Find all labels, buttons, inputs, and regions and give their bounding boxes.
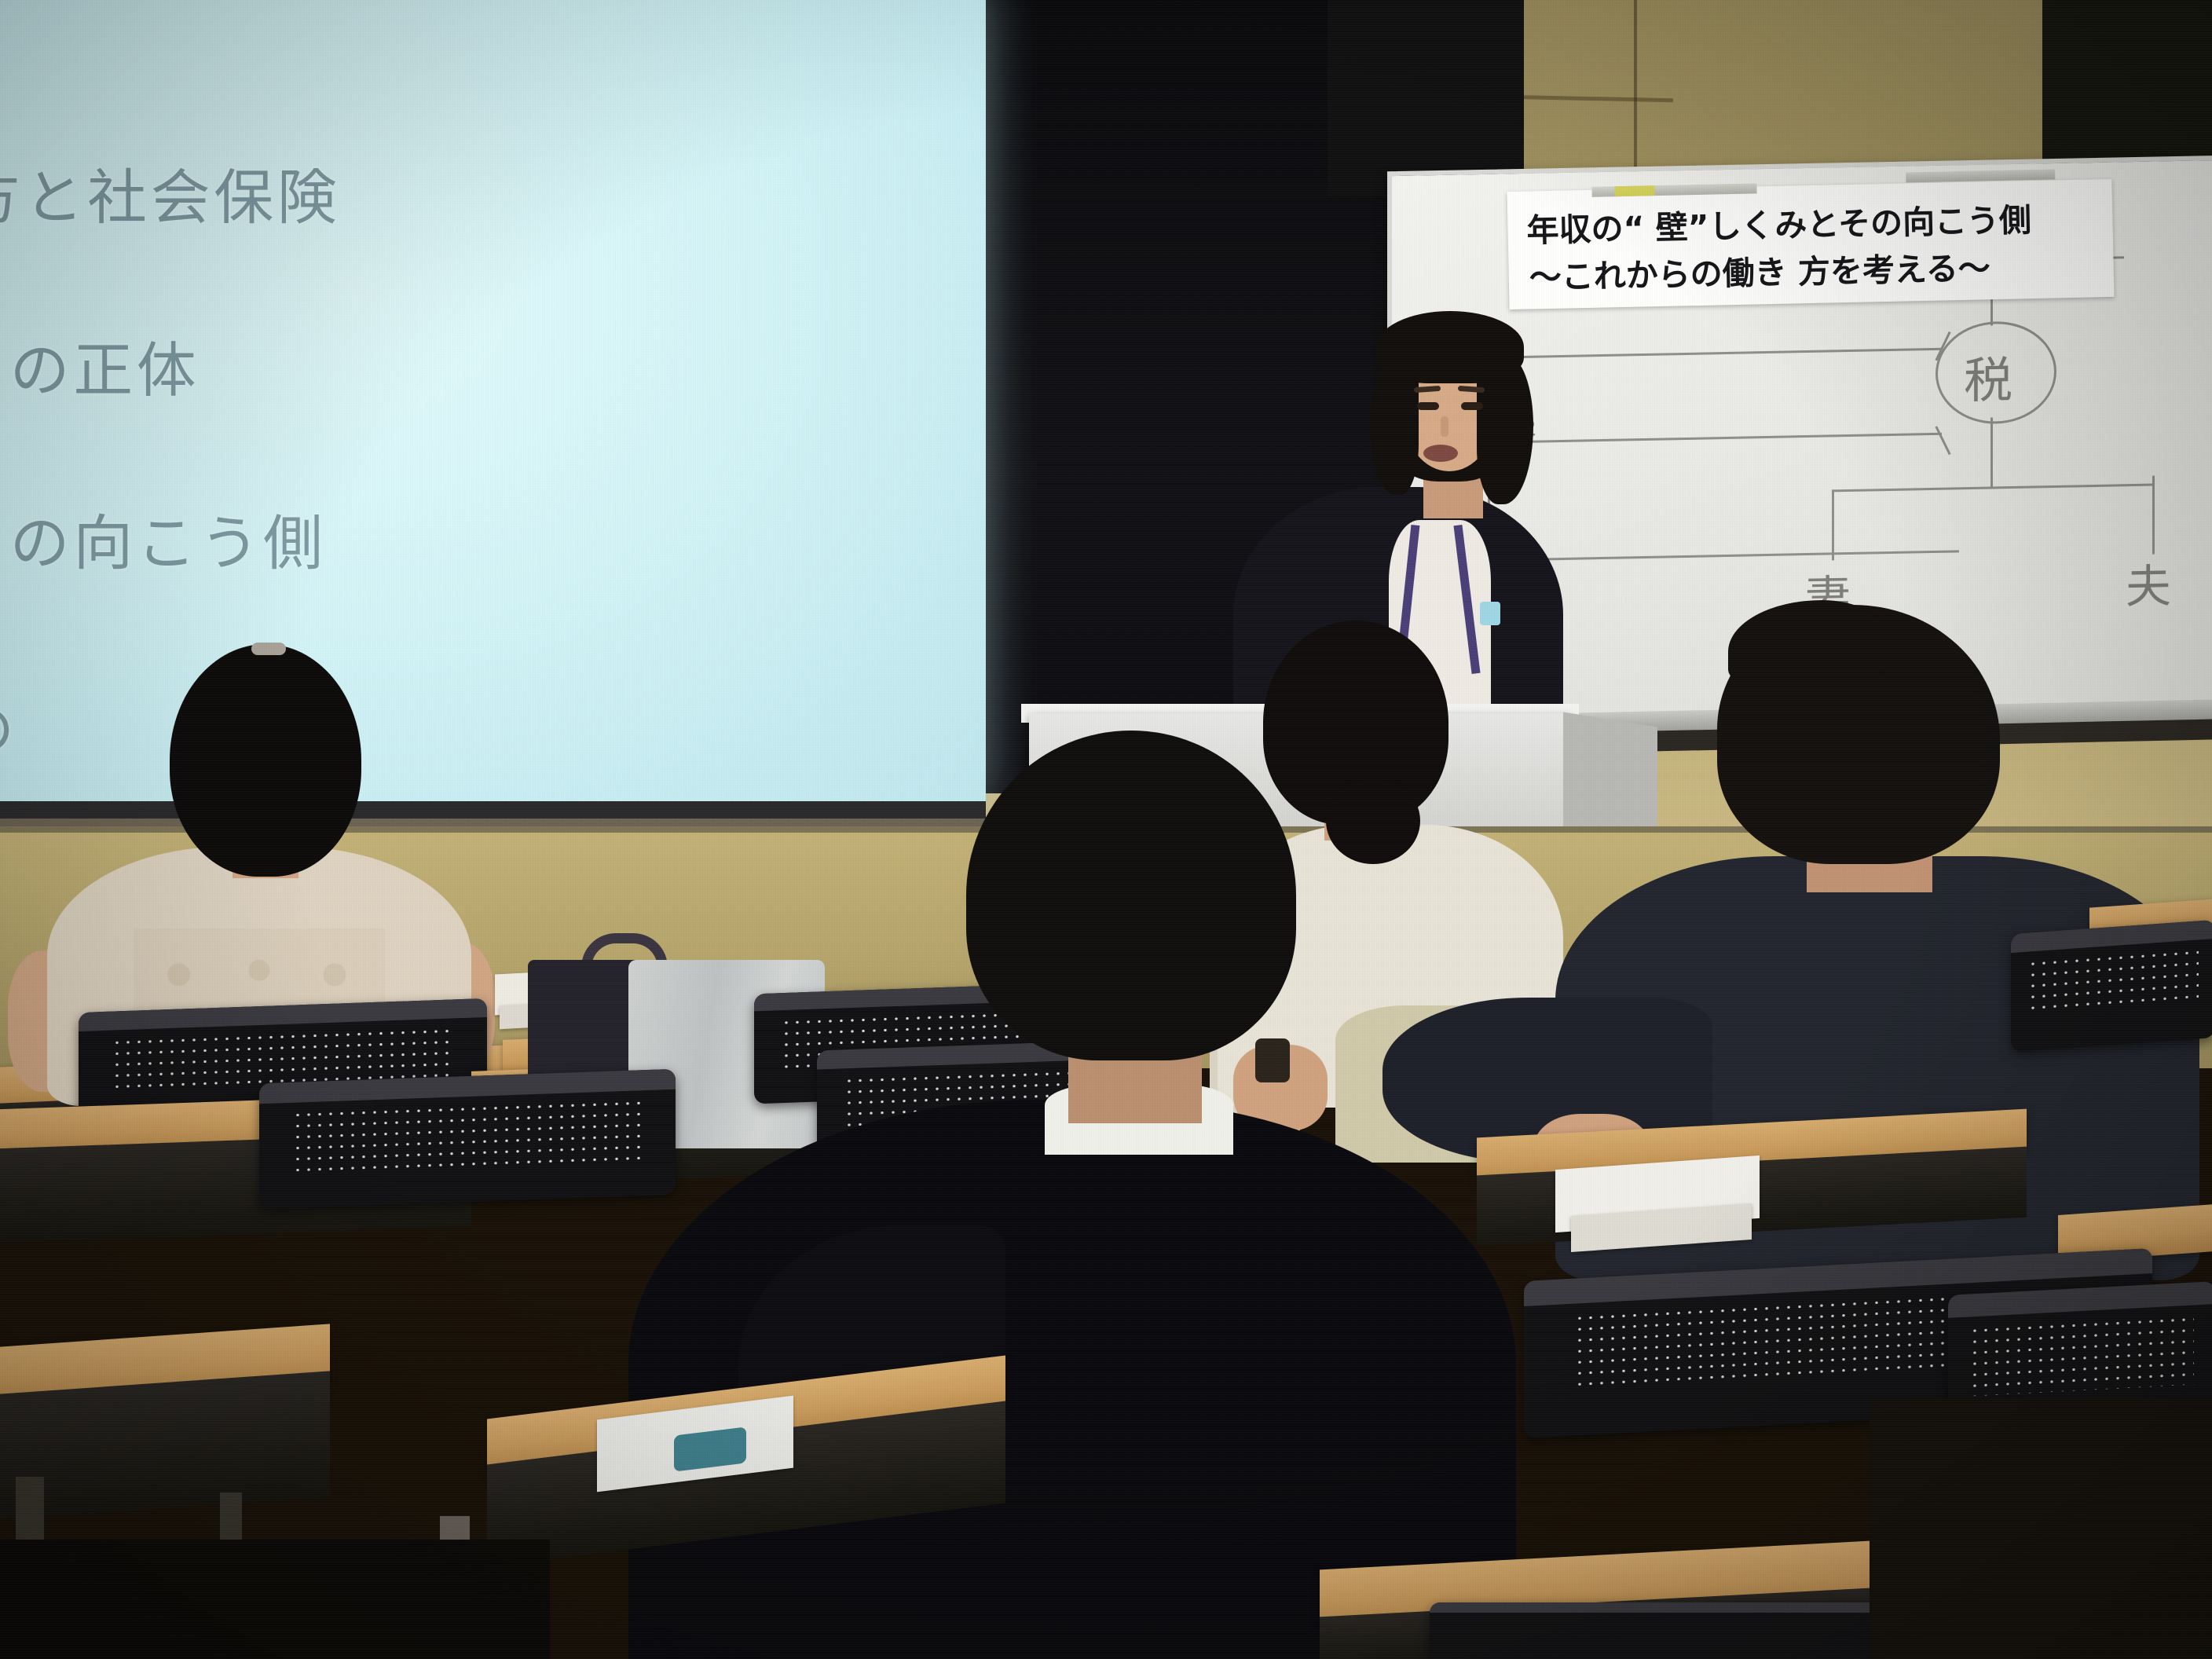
poster-title-line-2: ～これからの働き 方を考える～ bbox=[1529, 241, 1990, 298]
whiteboard-kanji-husband: 夫 bbox=[2126, 549, 2171, 616]
wristwatch bbox=[1255, 1038, 1290, 1082]
presenter-eye bbox=[1417, 402, 1439, 410]
slide-line-4: の bbox=[0, 683, 17, 767]
slide-line-2: ” の正体 bbox=[0, 322, 200, 408]
presenter-nose bbox=[1441, 416, 1448, 437]
chair bbox=[259, 1069, 676, 1210]
presenter-eye bbox=[1461, 402, 1483, 410]
desk-front-panel bbox=[0, 1371, 330, 1519]
presenter-hair-left bbox=[1370, 361, 1419, 495]
attendee-woman-hair bbox=[170, 644, 361, 877]
tape-strip-right bbox=[1906, 169, 2055, 182]
slide-line-1: 方と社会保険 bbox=[0, 149, 340, 236]
chair bbox=[2011, 920, 2212, 1052]
projection-screen: 方と社会保険 ” の正体 ” の向こう側 の bbox=[0, 0, 986, 805]
presenter-mouth bbox=[1423, 445, 1458, 462]
black-curtain-panel-upper bbox=[1328, 0, 1524, 196]
hair-clip bbox=[251, 643, 286, 655]
whiteboard-kanji-tax: 税 bbox=[1964, 340, 2012, 412]
floor-shadow-right bbox=[1870, 1398, 2212, 1659]
floor-shadow bbox=[0, 1540, 550, 1659]
hair-bun bbox=[1326, 778, 1420, 864]
seminar-room-photo: 方と社会保険 ” の正体 ” の向こう側 の 税 妻 夫 202 年収の bbox=[0, 0, 2212, 1659]
whiteboard-poster: 年収の“ 壁”しくみとその向こう側 ～これからの働き 方を考える～ bbox=[1507, 179, 2115, 309]
presenter-lapel-pin bbox=[1480, 602, 1500, 625]
attendee-suit-man-hair bbox=[966, 731, 1296, 1060]
slide-line-3: ” の向こう側 bbox=[0, 495, 326, 581]
